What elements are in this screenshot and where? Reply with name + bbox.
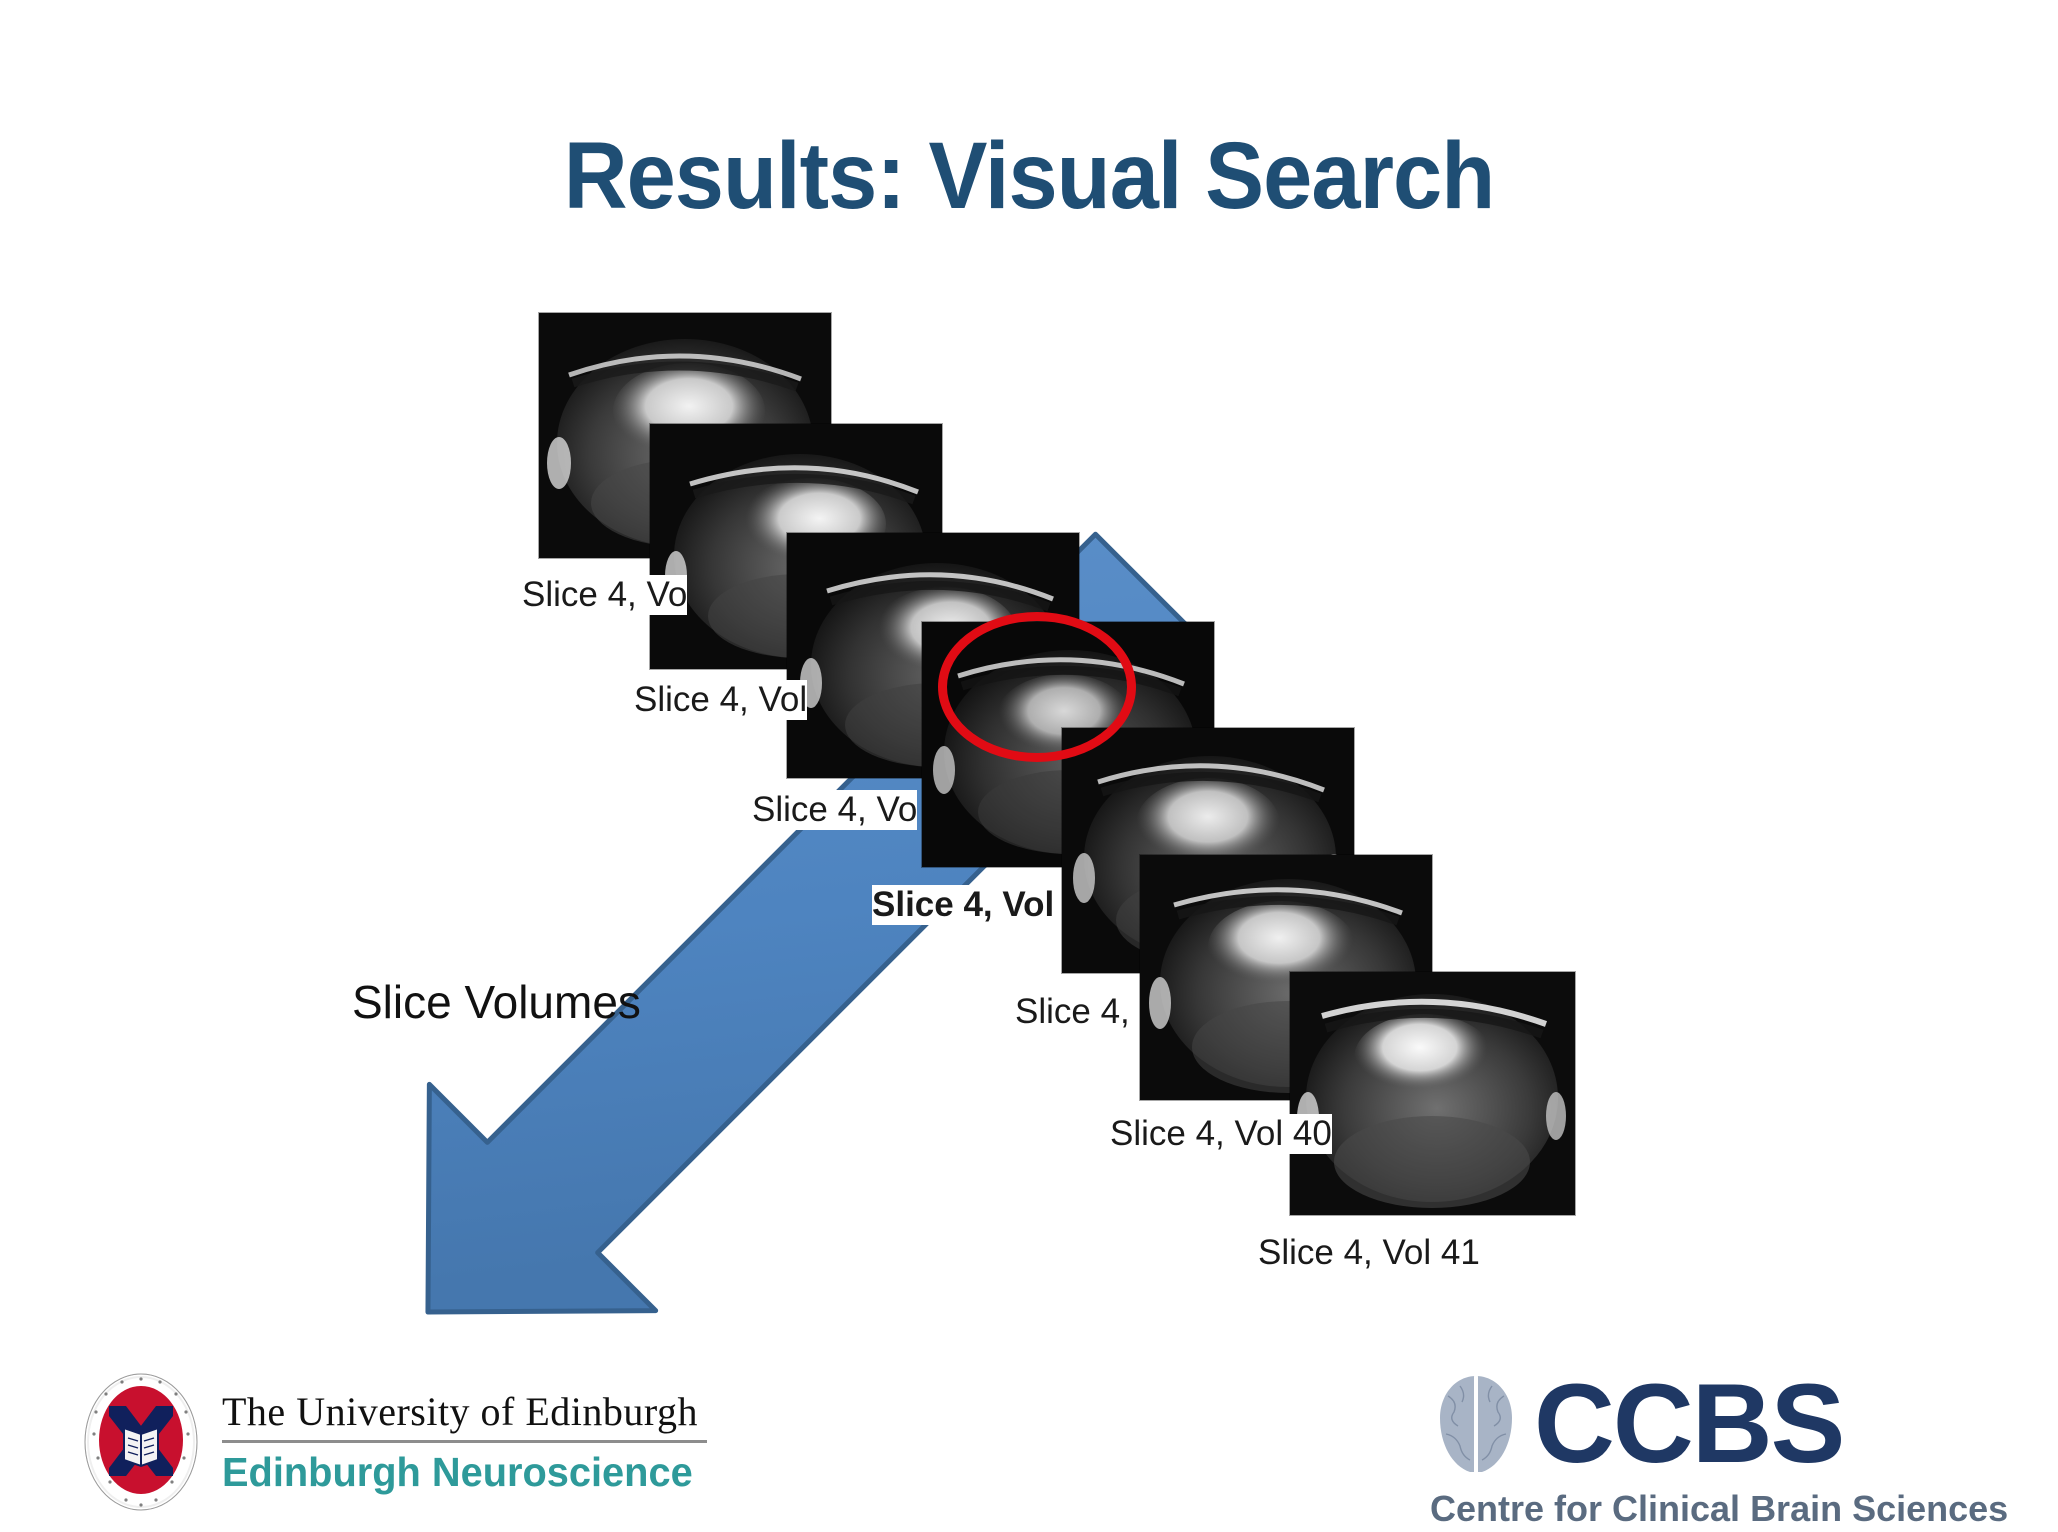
uoe-wordmark: The University of Edinburgh Edinburgh Ne… [222,1388,707,1496]
ccbs-acronym: CCBS [1534,1368,1843,1480]
page-title: Results: Visual Search [72,122,1986,231]
university-name: The University of Edinburgh [222,1388,707,1435]
slice-label: Slice 4, Vo [752,790,917,830]
ccbs-logo-top: CCBS [1430,1368,2000,1480]
wordmark-divider [222,1440,707,1443]
ccbs-logo: CCBS Centre for Clinical Brain Sciences [1430,1368,2000,1530]
edinburgh-neuroscience-label: Edinburgh Neuroscience [222,1449,693,1496]
edinburgh-crest-icon [82,1372,200,1512]
slice-label: Slice 4, Vol 41 [1258,1233,1480,1273]
slice-label: Slice 4, [1015,992,1130,1032]
brain-icon [1430,1372,1522,1476]
presentation-slide: Results: Visual Search [0,0,2058,1532]
slice-volumes-caption: Slice Volumes [352,975,641,1029]
slice-label: Slice 4, Vol 40 [1110,1114,1332,1154]
university-of-edinburgh-logo: The University of Edinburgh Edinburgh Ne… [82,1372,707,1512]
mri-slice-image [1290,972,1575,1215]
slice-label: Slice 4, Vo [522,575,687,615]
slice-label-highlighted: Slice 4, Vol [872,885,1054,925]
slice-label: Slice 4, Vol [634,680,807,720]
ccbs-full-name: Centre for Clinical Brain Sciences [1430,1488,2000,1530]
